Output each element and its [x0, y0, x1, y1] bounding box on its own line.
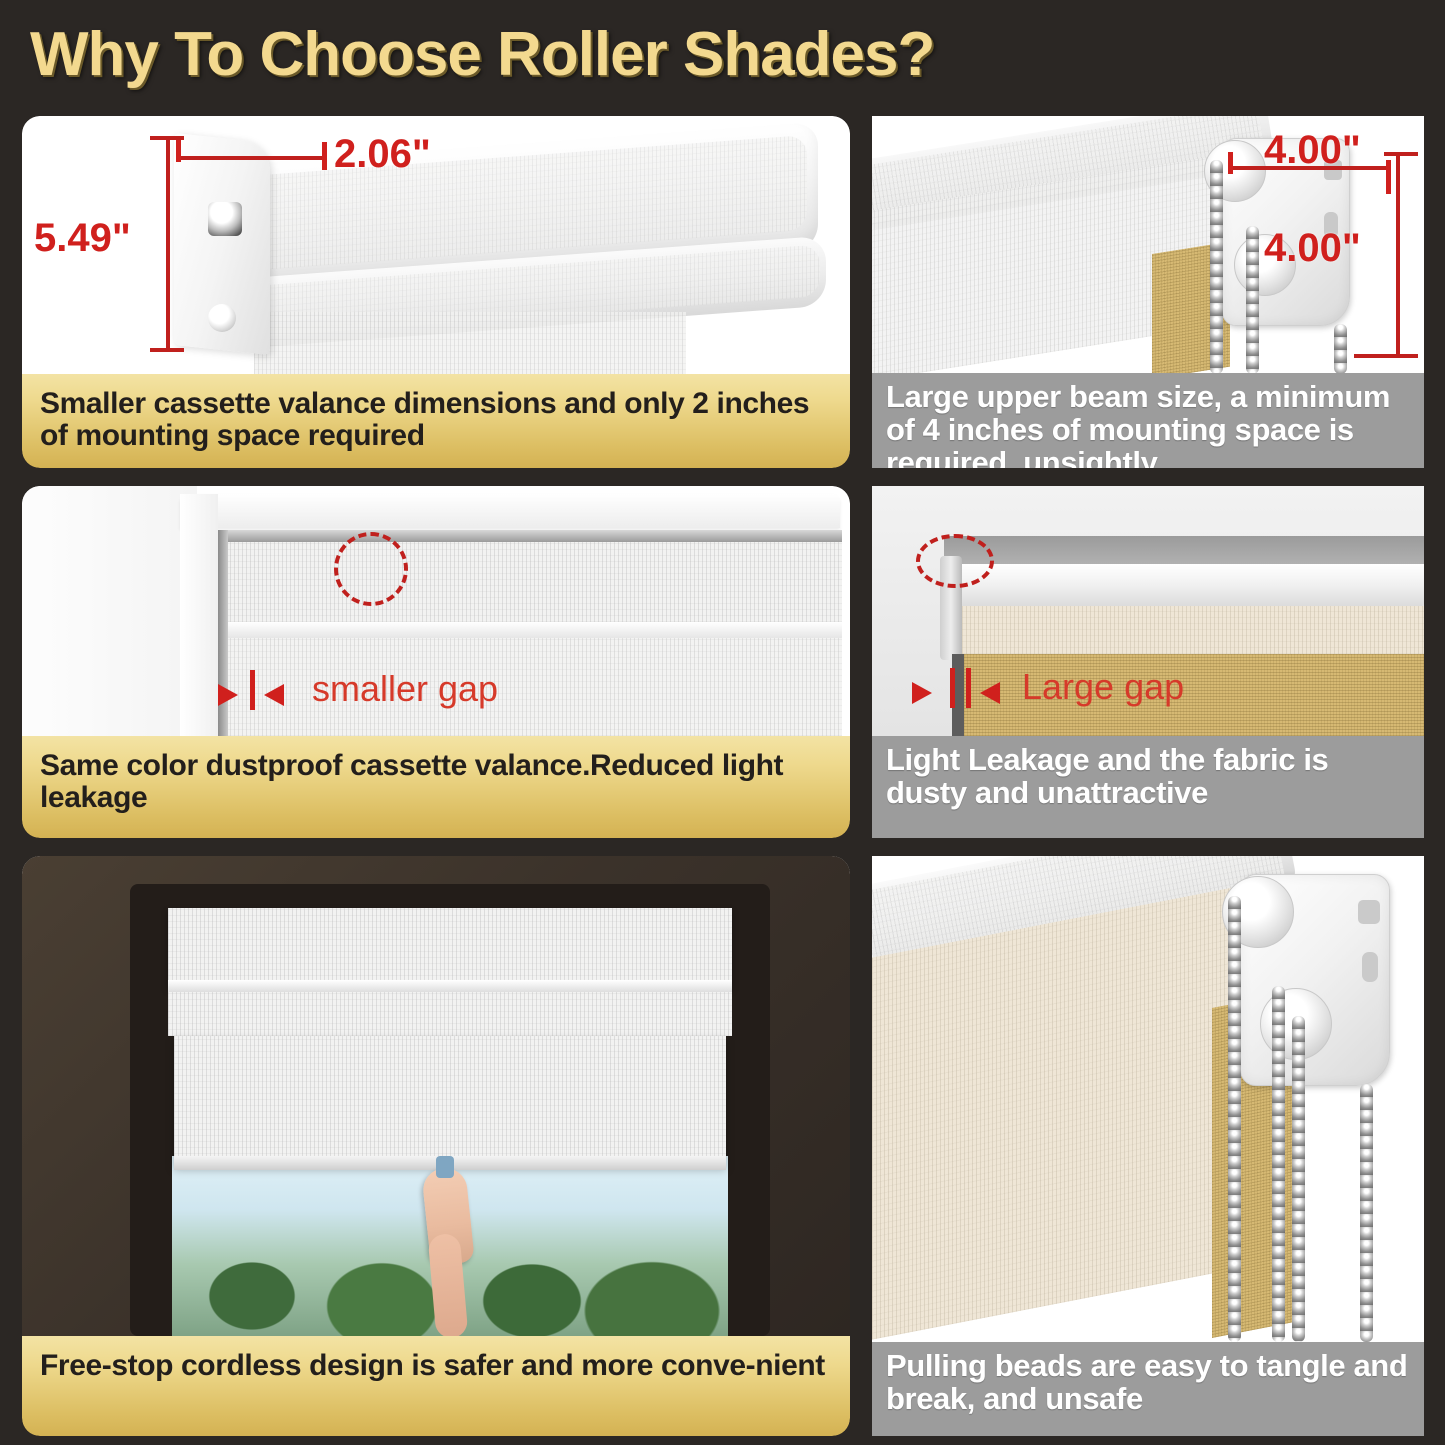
gap-arrow-left [218, 684, 238, 706]
beam-width-tick-right [1386, 160, 1391, 194]
valance-beige-band [958, 606, 1424, 654]
wall [22, 486, 197, 736]
height-dim-tick-top [150, 136, 184, 140]
bead-chain-middle [1246, 226, 1259, 373]
gap-arrow-right [264, 684, 284, 706]
panel-4-caption-text: Light Leakage and the fabric is dusty an… [886, 744, 1410, 810]
panel-4-caption-bar: Light Leakage and the fabric is dusty an… [872, 736, 1424, 838]
bead-chain-middle [1272, 986, 1285, 1342]
panel-1-caption-text: Smaller cassette valance dimensions and … [40, 388, 832, 452]
panel-2-caption-text: Large upper beam size, a minimum of 4 in… [886, 381, 1410, 468]
smaller-gap-label: smaller gap [312, 668, 498, 710]
shade-fabric-drop [254, 312, 686, 374]
panel-pulling-beads: Pulling beads are easy to tangle and bre… [872, 856, 1424, 1436]
beam-height-label: 4.00" [1264, 226, 1361, 271]
bead-chain-left [1228, 896, 1241, 1342]
valance-top-edge [218, 530, 842, 542]
panel-2-caption-bar: Large upper beam size, a minimum of 4 in… [872, 373, 1424, 468]
panel-light-leakage: Large gap Light Leakage and the fabric i… [872, 486, 1424, 838]
panel-1-photo: 2.06" 5.49" [22, 116, 850, 374]
bracket-slot-lower [1362, 952, 1378, 982]
panel-cordless-design: Free-stop cordless design is safer and m… [22, 856, 850, 1436]
valance-lower-rail [218, 622, 842, 638]
beam-height-dim-line [1396, 154, 1400, 358]
panel-5-photo [22, 856, 850, 1336]
panel-1-caption-bar: Smaller cassette valance dimensions and … [22, 374, 850, 468]
height-dim-tick-bottom [150, 348, 184, 352]
panel-2-photo: 4.00" 4.00" [872, 116, 1424, 373]
beam-width-tick-left [1228, 152, 1233, 174]
gap-marker-line-2 [966, 668, 971, 708]
panel-3-caption-text: Same color dustproof cassette valance.Re… [40, 750, 832, 814]
bead-chain-right [1360, 1084, 1373, 1342]
window-frame-top [180, 494, 840, 528]
header: Why To Choose Roller Shades? [0, 0, 1445, 108]
end-cap-slot [208, 202, 242, 236]
panel-large-upper-beam: 4.00" 4.00" Large upper beam size, a min… [872, 116, 1424, 468]
panel-5-caption-text: Free-stop cordless design is safer and m… [40, 1350, 825, 1382]
gap-highlight-circle [334, 532, 408, 606]
panel-smaller-cassette: 2.06" 5.49" Smaller cassette valance dim… [22, 116, 850, 468]
shade-fabric-panel [174, 1036, 726, 1166]
cassette-valance [168, 908, 732, 988]
bead-chain-left [1210, 160, 1223, 373]
bracket-slot-upper [1358, 900, 1380, 924]
gap-highlight-circle [916, 534, 994, 588]
width-dim-tick-left [176, 138, 181, 162]
cassette-valance-face [218, 542, 842, 628]
width-dim-tick-right [322, 142, 327, 170]
end-cap-screw [208, 304, 236, 332]
beam-width-label: 4.00" [1264, 128, 1361, 173]
panel-3-photo: smaller gap [22, 486, 850, 736]
height-dim-line [166, 138, 170, 350]
page-title: Why To Choose Roller Shades? [30, 19, 934, 90]
gap-marker-line [250, 670, 255, 710]
beam-height-tick-bottom [1354, 354, 1418, 358]
panel-grid: 2.06" 5.49" Smaller cassette valance dim… [0, 108, 1445, 1445]
large-gap-label: Large gap [1022, 666, 1184, 708]
panel-6-caption-bar: Pulling beads are easy to tangle and bre… [872, 1342, 1424, 1436]
panel-6-caption-text: Pulling beads are easy to tangle and bre… [886, 1350, 1410, 1416]
gap-arrow-right [980, 682, 1000, 704]
head-rail [944, 564, 1424, 612]
width-dimension-label: 2.06" [334, 132, 431, 177]
panel-4-photo: Large gap [872, 486, 1424, 736]
panel-3-caption-bar: Same color dustproof cassette valance.Re… [22, 736, 850, 838]
panel-dustproof-valance: smaller gap Same color dustproof cassett… [22, 486, 850, 838]
bead-chain-inner [1292, 1016, 1305, 1342]
height-dimension-label: 5.49" [34, 216, 131, 261]
valance-lower [168, 992, 732, 1036]
bead-chain-right [1334, 324, 1347, 373]
gap-arrow-left [912, 682, 932, 704]
infographic-page: Why To Choose Roller Shades? [0, 0, 1445, 1445]
shade-pull-tab [436, 1156, 454, 1178]
beam-height-tick-top [1384, 152, 1418, 156]
window-frame-left [180, 494, 218, 736]
width-dim-line [178, 156, 326, 160]
panel-5-caption-bar: Free-stop cordless design is safer and m… [22, 1336, 850, 1436]
gap-marker-line-1 [950, 668, 955, 708]
panel-6-photo [872, 856, 1424, 1342]
sheer-fabric-body [872, 883, 1256, 1342]
